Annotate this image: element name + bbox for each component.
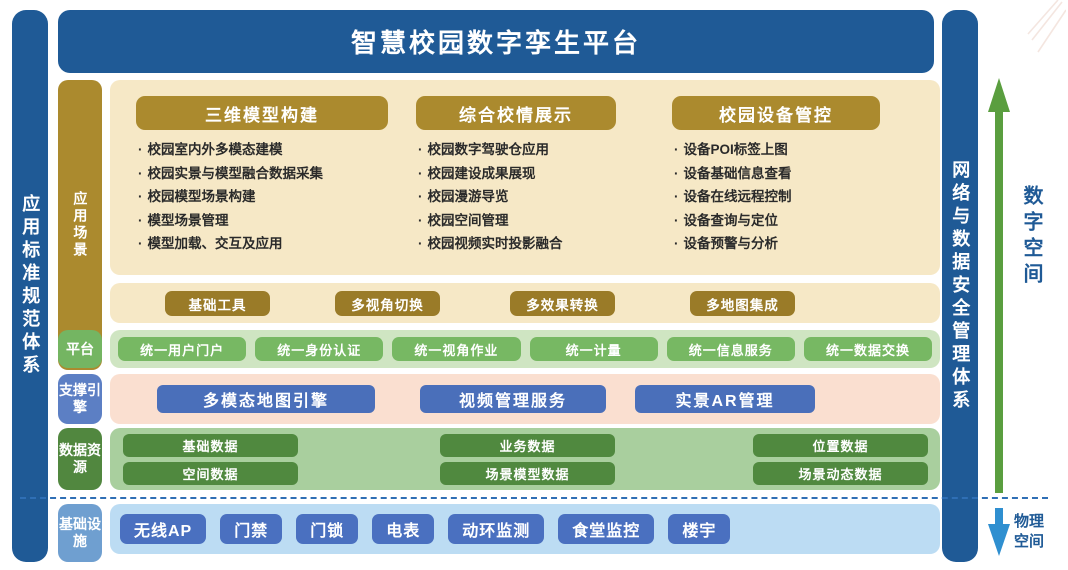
scenario-item: 校园建设成果展现 [416,162,668,186]
scenario-item: 校园模型场景构建 [136,185,388,209]
application-scenarios-panel: 三维模型构建 校园室内外多模态建模 校园实景与模型融合数据采集 校园模型场景构建… [110,80,940,275]
platform-service-chip[interactable]: 统一数据交换 [804,337,932,361]
data-resource-panel: 基础数据 空间数据 业务数据 场景模型数据 位置数据 场景动态数据 [110,428,940,490]
layer-label-infrastructure: 基础设施 [58,504,102,562]
platform-service-chip[interactable]: 统一身份认证 [255,337,383,361]
tool-chip[interactable]: 多地图集成 [690,291,795,316]
scenario-item: 设备POI标签上图 [672,138,924,162]
infrastructure-chip[interactable]: 电表 [372,514,434,544]
scenario-item: 设备在线远程控制 [672,185,924,209]
scenario-title: 综合校情展示 [416,96,616,130]
scenario-item: 设备预警与分析 [672,232,924,256]
engine-chip[interactable]: 视频管理服务 [420,385,606,413]
layer-label-application-text: 应用场景 [72,191,89,259]
scenario-column: 三维模型构建 校园室内外多模态建模 校园实景与模型融合数据采集 校园模型场景构建… [136,96,388,256]
scenario-column: 校园设备管控 设备POI标签上图 设备基础信息查看 设备在线远程控制 设备查询与… [672,96,924,256]
scenario-item: 设备基础信息查看 [672,162,924,186]
scenario-item: 设备查询与定位 [672,209,924,233]
sidebar-right-label: 网络与数据安全管理体系 [949,160,972,413]
tools-panel: 基础工具 多视角切换 多效果转换 多地图集成 [110,283,940,323]
scenario-item-list: 设备POI标签上图 设备基础信息查看 设备在线远程控制 设备查询与定位 设备预警… [672,138,924,256]
physical-space-label-line1: 物理 [1014,512,1062,532]
scenario-column: 综合校情展示 校园数字驾驶仓应用 校园建设成果展现 校园漫游导览 校园空间管理 … [416,96,668,256]
sidebar-left-label: 应用标准规范体系 [19,194,42,378]
engine-chip[interactable]: 实景AR管理 [635,385,815,413]
support-engine-panel: 多模态地图引擎 视频管理服务 实景AR管理 [110,374,940,424]
layer-label-infrastructure-text: 基础设施 [58,516,102,550]
scenario-item: 校园室内外多模态建模 [136,138,388,162]
digital-space-arrow-up-icon [988,78,1010,493]
scenario-title: 三维模型构建 [136,96,388,130]
scenario-item: 模型场景管理 [136,209,388,233]
physical-space-label-line2: 空间 [1014,532,1062,552]
infrastructure-chip[interactable]: 动环监测 [448,514,544,544]
layer-label-data-resource-text: 数据资源 [58,442,102,476]
layer-label-engine: 支撑引擎 [58,374,102,424]
layer-label-platform: 平台 [58,330,102,368]
tool-chip[interactable]: 基础工具 [165,291,270,316]
scenario-item: 校园视频实时投影融合 [416,232,668,256]
infrastructure-chip[interactable]: 楼宇 [668,514,730,544]
scenario-title: 校园设备管控 [672,96,880,130]
layer-label-application: 应用场景 [58,80,102,370]
layer-label-platform-text: 平台 [66,341,94,358]
scenario-item: 校园数字驾驶仓应用 [416,138,668,162]
sidebar-network-data-security: 网络与数据安全管理体系 [942,10,978,562]
platform-service-chip[interactable]: 统一视角作业 [392,337,520,361]
infrastructure-chip[interactable]: 食堂监控 [558,514,654,544]
data-chip[interactable]: 位置数据 [753,434,928,457]
scenario-item-list: 校园数字驾驶仓应用 校园建设成果展现 校园漫游导览 校园空间管理 校园视频实时投… [416,138,668,256]
sidebar-standards-system: 应用标准规范体系 [12,10,48,562]
infrastructure-chip[interactable]: 门锁 [296,514,358,544]
digital-space-label: 数字空间 [1012,185,1046,289]
data-chip[interactable]: 场景动态数据 [753,462,928,485]
decorative-mark [1022,0,1066,60]
tool-chip[interactable]: 多效果转换 [510,291,615,316]
platform-service-chip[interactable]: 统一信息服务 [667,337,795,361]
infrastructure-panel: 无线AP 门禁 门锁 电表 动环监测 食堂监控 楼宇 [110,504,940,554]
infrastructure-chip[interactable]: 门禁 [220,514,282,544]
architecture-diagram: 应用标准规范体系 网络与数据安全管理体系 智慧校园数字孪生平台 应用场景 平台 … [0,0,1068,570]
data-chip[interactable]: 场景模型数据 [440,462,615,485]
page-title: 智慧校园数字孪生平台 [58,10,934,73]
data-chip[interactable]: 基础数据 [123,434,298,457]
layer-label-engine-text: 支撑引擎 [58,382,102,416]
scenario-item: 校园实景与模型融合数据采集 [136,162,388,186]
scenario-item: 校园漫游导览 [416,185,668,209]
platform-service-chip[interactable]: 统一用户门户 [118,337,246,361]
scenario-item-list: 校园室内外多模态建模 校园实景与模型融合数据采集 校园模型场景构建 模型场景管理… [136,138,388,256]
tool-chip[interactable]: 多视角切换 [335,291,440,316]
platform-title-text: 智慧校园数字孪生平台 [351,23,641,60]
platform-panel: 统一用户门户 统一身份认证 统一视角作业 统一计量 统一信息服务 统一数据交换 [110,330,940,368]
scenario-item: 模型加载、交互及应用 [136,232,388,256]
data-chip[interactable]: 空间数据 [123,462,298,485]
data-chip[interactable]: 业务数据 [440,434,615,457]
engine-chip[interactable]: 多模态地图引擎 [157,385,375,413]
infrastructure-chip[interactable]: 无线AP [120,514,206,544]
physical-space-arrow-down-icon [988,508,1010,556]
platform-service-chip[interactable]: 统一计量 [530,337,658,361]
physical-digital-divider [20,497,1048,499]
scenario-item: 校园空间管理 [416,209,668,233]
physical-space-label: 物理 空间 [1014,512,1062,551]
layer-label-data-resource: 数据资源 [58,428,102,490]
